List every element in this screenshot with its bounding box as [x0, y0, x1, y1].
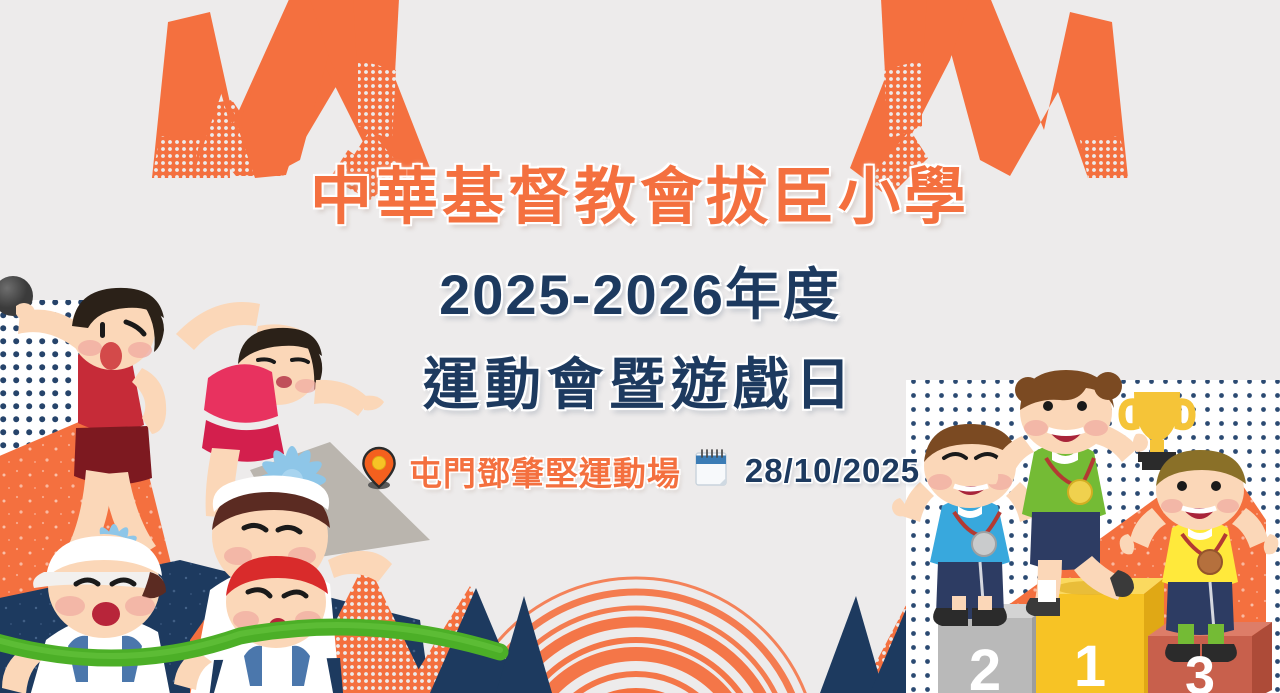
zigzag-accent-above-title: [352, 0, 400, 140]
location-pin-icon: [360, 446, 398, 495]
poster-artwork: 2 1 3: [0, 0, 1280, 693]
event-date-label: 28/10/2025: [745, 452, 920, 490]
venue-label: 屯門鄧肇堅運動場: [409, 447, 681, 495]
venue-and-date-row: 屯門鄧肇堅運動場 28/10/2025: [0, 446, 1280, 495]
sports-day-poster: 2 1 3 中華基督教會拔臣小學 2025-2026年度 運動會暨遊戲日 屯門鄧…: [0, 0, 1280, 693]
calendar-icon: [692, 447, 730, 494]
podium-number-1: 1: [1074, 634, 1106, 693]
podium-number-3: 3: [1185, 646, 1215, 693]
podium-number-2: 2: [969, 638, 1001, 693]
